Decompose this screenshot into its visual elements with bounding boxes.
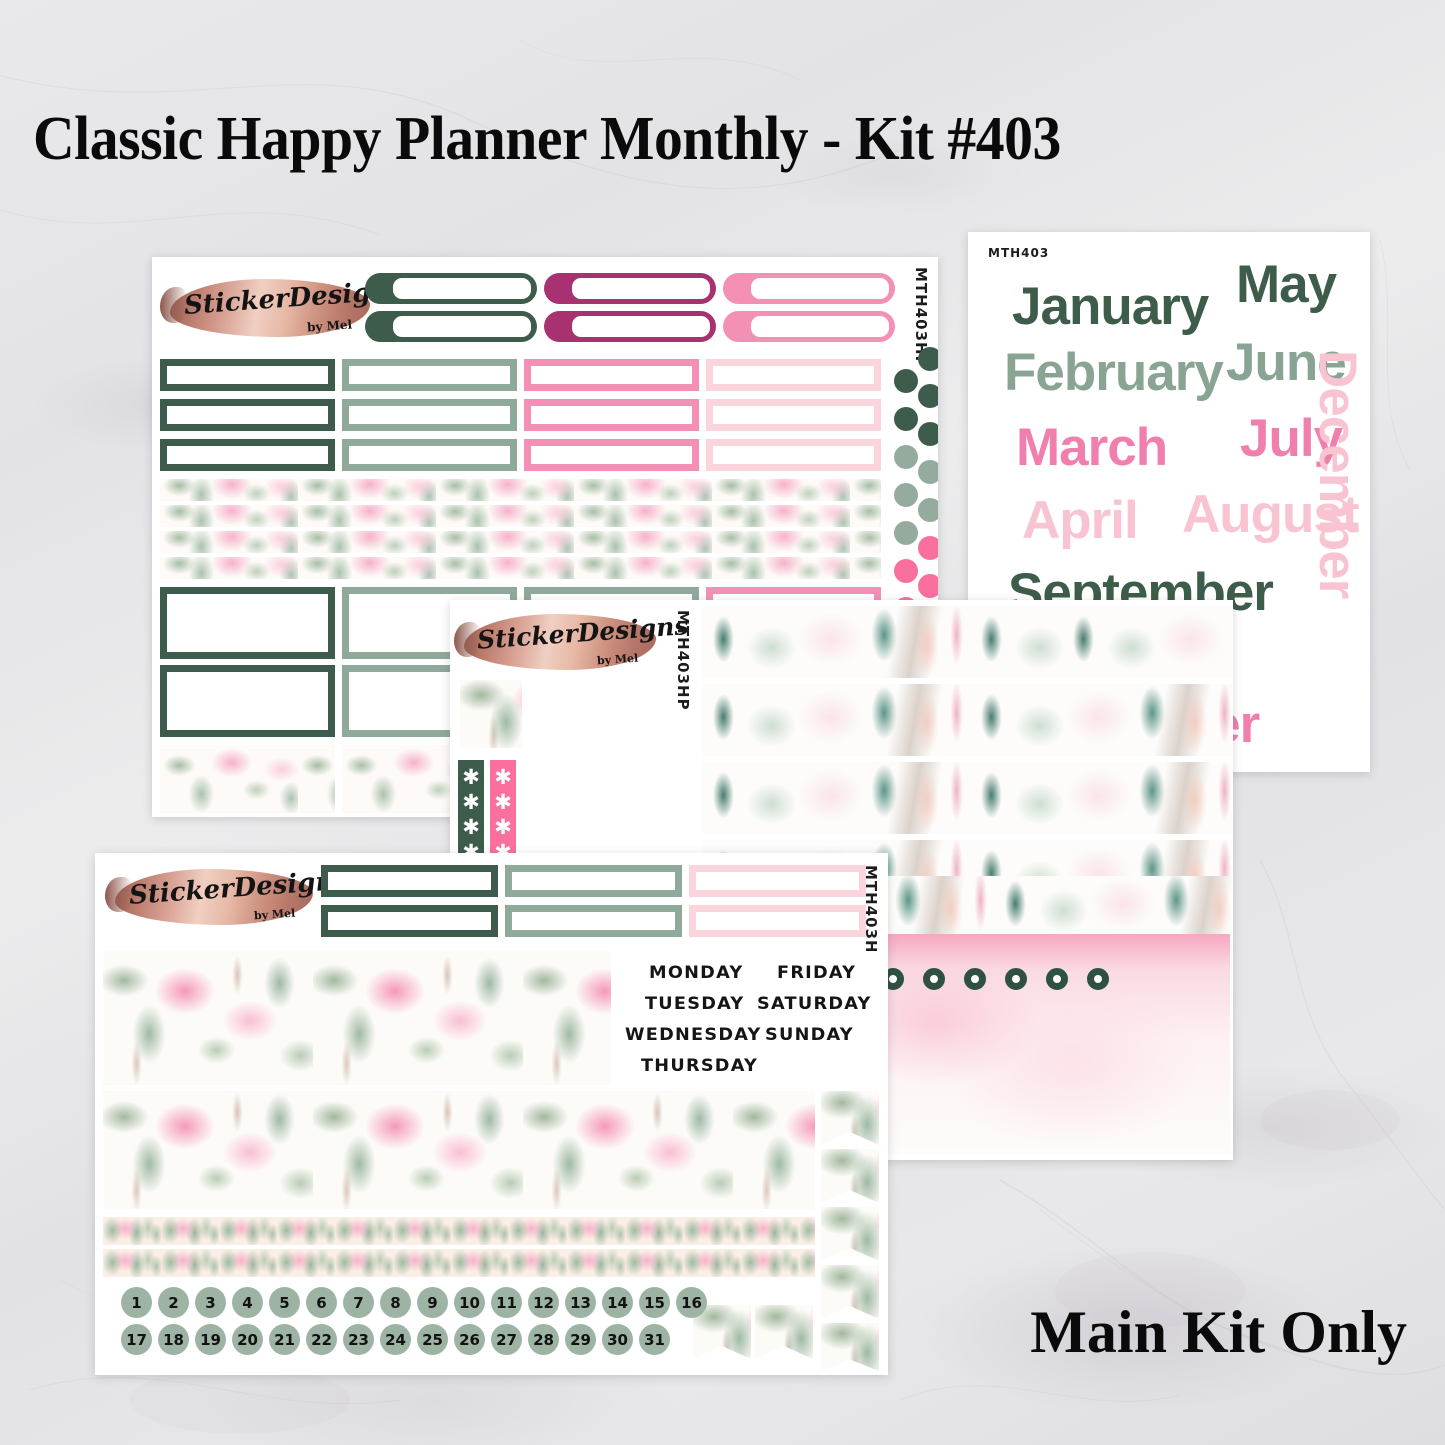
label-box-green[interactable] xyxy=(160,399,335,431)
label-box-lightpink[interactable] xyxy=(706,399,881,431)
washi-tape-strip[interactable] xyxy=(103,1217,815,1245)
pill-inner xyxy=(572,278,710,299)
label-box-pink[interactable] xyxy=(524,439,699,471)
date-circle-20[interactable]: 20 xyxy=(232,1324,263,1355)
dot-green[interactable] xyxy=(894,407,918,431)
date-circle-24[interactable]: 24 xyxy=(380,1324,411,1355)
large-box-green[interactable] xyxy=(160,665,335,737)
date-circle-14[interactable]: 14 xyxy=(602,1287,633,1318)
month-january[interactable]: January xyxy=(1012,276,1208,337)
flag-sticker[interactable] xyxy=(755,1305,813,1359)
weekday-label-block[interactable]: MONDAY TUESDAY WEDNESDAY THURSDAY FRIDAY… xyxy=(617,951,877,1085)
sheet-sku-months: MTH403 xyxy=(988,246,1049,260)
hole-punch-ring[interactable] xyxy=(1087,968,1109,990)
date-circle-25[interactable]: 25 xyxy=(417,1324,448,1355)
label-box-sage[interactable] xyxy=(505,865,682,897)
pill-inner xyxy=(751,278,889,299)
page-title: Classic Happy Planner Monthly - Kit #403 xyxy=(33,104,1316,175)
label-box-lightpink[interactable] xyxy=(689,905,866,937)
label-box-green[interactable] xyxy=(160,359,335,391)
date-circle-27[interactable]: 27 xyxy=(491,1324,522,1355)
date-circle-9[interactable]: 9 xyxy=(417,1287,448,1318)
month-february[interactable]: February xyxy=(1004,342,1223,403)
asterisk-icon: ✱ xyxy=(494,817,512,838)
pill-sticker-green-1[interactable] xyxy=(365,273,537,304)
sticker-sheet-bottom[interactable]: StickerDesigns by Mel MTH403HP MONDAY TU… xyxy=(95,853,888,1375)
date-circle-17[interactable]: 17 xyxy=(121,1324,152,1355)
pill-sticker-green-2[interactable] xyxy=(365,311,537,342)
asterisk-icon: ✱ xyxy=(494,767,512,788)
label-box-pink[interactable] xyxy=(524,399,699,431)
pill-sticker-magenta-2[interactable] xyxy=(544,311,716,342)
leafy-header-strip[interactable] xyxy=(1062,606,1232,678)
dot-pink[interactable] xyxy=(918,574,938,598)
floral-full-panel[interactable] xyxy=(103,1091,815,1209)
date-circle-31[interactable]: 31 xyxy=(639,1324,670,1355)
weekday-thursday[interactable]: THURSDAY xyxy=(641,1056,758,1076)
date-circle-6[interactable]: 6 xyxy=(306,1287,337,1318)
label-box-sage[interactable] xyxy=(505,905,682,937)
date-circle-19[interactable]: 19 xyxy=(195,1324,226,1355)
date-circle-16[interactable]: 16 xyxy=(676,1287,707,1318)
date-circle-28[interactable]: 28 xyxy=(528,1324,559,1355)
label-box-green[interactable] xyxy=(321,905,498,937)
date-circle-7[interactable]: 7 xyxy=(343,1287,374,1318)
date-circle-grid[interactable]: 1234567891011121314151617181920212223242… xyxy=(121,1287,731,1355)
dot-green[interactable] xyxy=(918,384,938,408)
dot-green[interactable] xyxy=(918,347,938,371)
dot-green[interactable] xyxy=(918,422,938,446)
flag-sticker[interactable] xyxy=(821,1323,879,1371)
month-may[interactable]: May xyxy=(1236,254,1336,315)
label-box-sage[interactable] xyxy=(342,399,517,431)
month-march[interactable]: March xyxy=(1016,417,1167,478)
label-box-pink[interactable] xyxy=(524,359,699,391)
pill-sticker-magenta-1[interactable] xyxy=(544,273,716,304)
dot-sage[interactable] xyxy=(918,498,938,522)
date-circle-13[interactable]: 13 xyxy=(565,1287,596,1318)
date-circle-11[interactable]: 11 xyxy=(491,1287,522,1318)
month-december[interactable]: December xyxy=(1307,350,1368,598)
weekday-monday[interactable]: MONDAY xyxy=(649,963,743,983)
brand-byline: by Mel xyxy=(254,907,296,923)
dot-sticker-column[interactable] xyxy=(894,347,938,607)
month-april[interactable]: April xyxy=(1022,490,1138,551)
floral-washi-strip[interactable] xyxy=(160,505,881,527)
asterisk-icon: ✱ xyxy=(462,792,480,813)
weekday-wednesday[interactable]: WEDNESDAY xyxy=(625,1025,762,1045)
date-circle-26[interactable]: 26 xyxy=(454,1324,485,1355)
date-circle-22[interactable]: 22 xyxy=(306,1324,337,1355)
flag-sticker[interactable] xyxy=(821,1265,879,1319)
pill-inner xyxy=(572,316,710,337)
date-circle-21[interactable]: 21 xyxy=(269,1324,300,1355)
flag-sticker[interactable] xyxy=(821,1091,879,1145)
label-box-sage[interactable] xyxy=(342,359,517,391)
brand-byline: by Mel xyxy=(597,652,639,668)
date-circle-29[interactable]: 29 xyxy=(565,1324,596,1355)
leafy-header-strip[interactable] xyxy=(702,684,1232,756)
hole-punch-ring[interactable] xyxy=(1046,968,1068,990)
washi-tape-strip[interactable] xyxy=(103,1249,815,1277)
floral-header-sticker[interactable] xyxy=(103,951,611,1085)
date-circle-23[interactable]: 23 xyxy=(343,1324,374,1355)
asterisk-icon: ✱ xyxy=(462,767,480,788)
hole-punch-ring[interactable] xyxy=(923,968,945,990)
dot-sage[interactable] xyxy=(918,460,938,484)
leafy-header-strip[interactable] xyxy=(702,762,1232,834)
label-box-lightpink[interactable] xyxy=(689,865,866,897)
date-circle-5[interactable]: 5 xyxy=(269,1287,300,1318)
asterisk-icon: ✱ xyxy=(462,817,480,838)
floral-square-sticker[interactable] xyxy=(460,680,522,748)
hole-punch-ring[interactable] xyxy=(964,968,986,990)
weekday-saturday[interactable]: SATURDAY xyxy=(757,994,872,1014)
label-box-green[interactable] xyxy=(321,865,498,897)
page-subtitle: Main Kit Only xyxy=(1030,1298,1407,1367)
label-box-lightpink[interactable] xyxy=(706,439,881,471)
dot-sage[interactable] xyxy=(894,521,918,545)
label-box-sage[interactable] xyxy=(342,439,517,471)
floral-washi-strip[interactable] xyxy=(160,479,881,501)
pill-inner xyxy=(393,316,531,337)
dot-sage[interactable] xyxy=(894,445,918,469)
label-box-lightpink[interactable] xyxy=(706,359,881,391)
date-circle-4[interactable]: 4 xyxy=(232,1287,263,1318)
floral-washi-strip[interactable] xyxy=(160,531,881,553)
pill-inner xyxy=(751,316,889,337)
date-circle-10[interactable]: 10 xyxy=(454,1287,485,1318)
pill-sticker-pink-2[interactable] xyxy=(723,311,895,342)
brand-logo-sheet-bottom: StickerDesigns by Mel xyxy=(115,869,313,925)
flag-sticker[interactable] xyxy=(821,1149,879,1203)
pill-sticker-pink-1[interactable] xyxy=(723,273,895,304)
weekday-friday[interactable]: FRIDAY xyxy=(777,963,856,983)
brand-byline: by Mel xyxy=(307,317,353,334)
date-circle-18[interactable]: 18 xyxy=(158,1324,189,1355)
date-circle-1[interactable]: 1 xyxy=(121,1287,152,1318)
asterisk-icon: ✱ xyxy=(494,792,512,813)
date-circle-3[interactable]: 3 xyxy=(195,1287,226,1318)
sheet-sku-middle: MTH403HP xyxy=(674,610,692,711)
hole-punch-ring[interactable] xyxy=(1005,968,1027,990)
label-box-green[interactable] xyxy=(160,439,335,471)
dot-pink[interactable] xyxy=(894,559,918,583)
pill-inner xyxy=(393,278,531,299)
flag-sticker[interactable] xyxy=(821,1207,879,1261)
date-circle-15[interactable]: 15 xyxy=(639,1287,670,1318)
floral-box-sticker[interactable] xyxy=(160,745,335,813)
large-box-green[interactable] xyxy=(160,587,335,659)
date-circle-30[interactable]: 30 xyxy=(602,1324,633,1355)
weekday-sunday[interactable]: SUNDAY xyxy=(765,1025,854,1045)
dot-pink[interactable] xyxy=(918,536,938,560)
brand-logo-sheet-one: StickerDesigns by Mel xyxy=(170,279,370,337)
brand-logo-sheet-middle: StickerDesigns by Mel xyxy=(464,614,656,670)
floral-washi-strip[interactable] xyxy=(160,557,881,579)
date-circle-12[interactable]: 12 xyxy=(528,1287,559,1318)
dot-green[interactable] xyxy=(894,369,918,393)
date-circle-8[interactable]: 8 xyxy=(380,1287,411,1318)
dot-sage[interactable] xyxy=(894,483,918,507)
weekday-tuesday[interactable]: TUESDAY xyxy=(645,994,744,1014)
date-circle-2[interactable]: 2 xyxy=(158,1287,189,1318)
